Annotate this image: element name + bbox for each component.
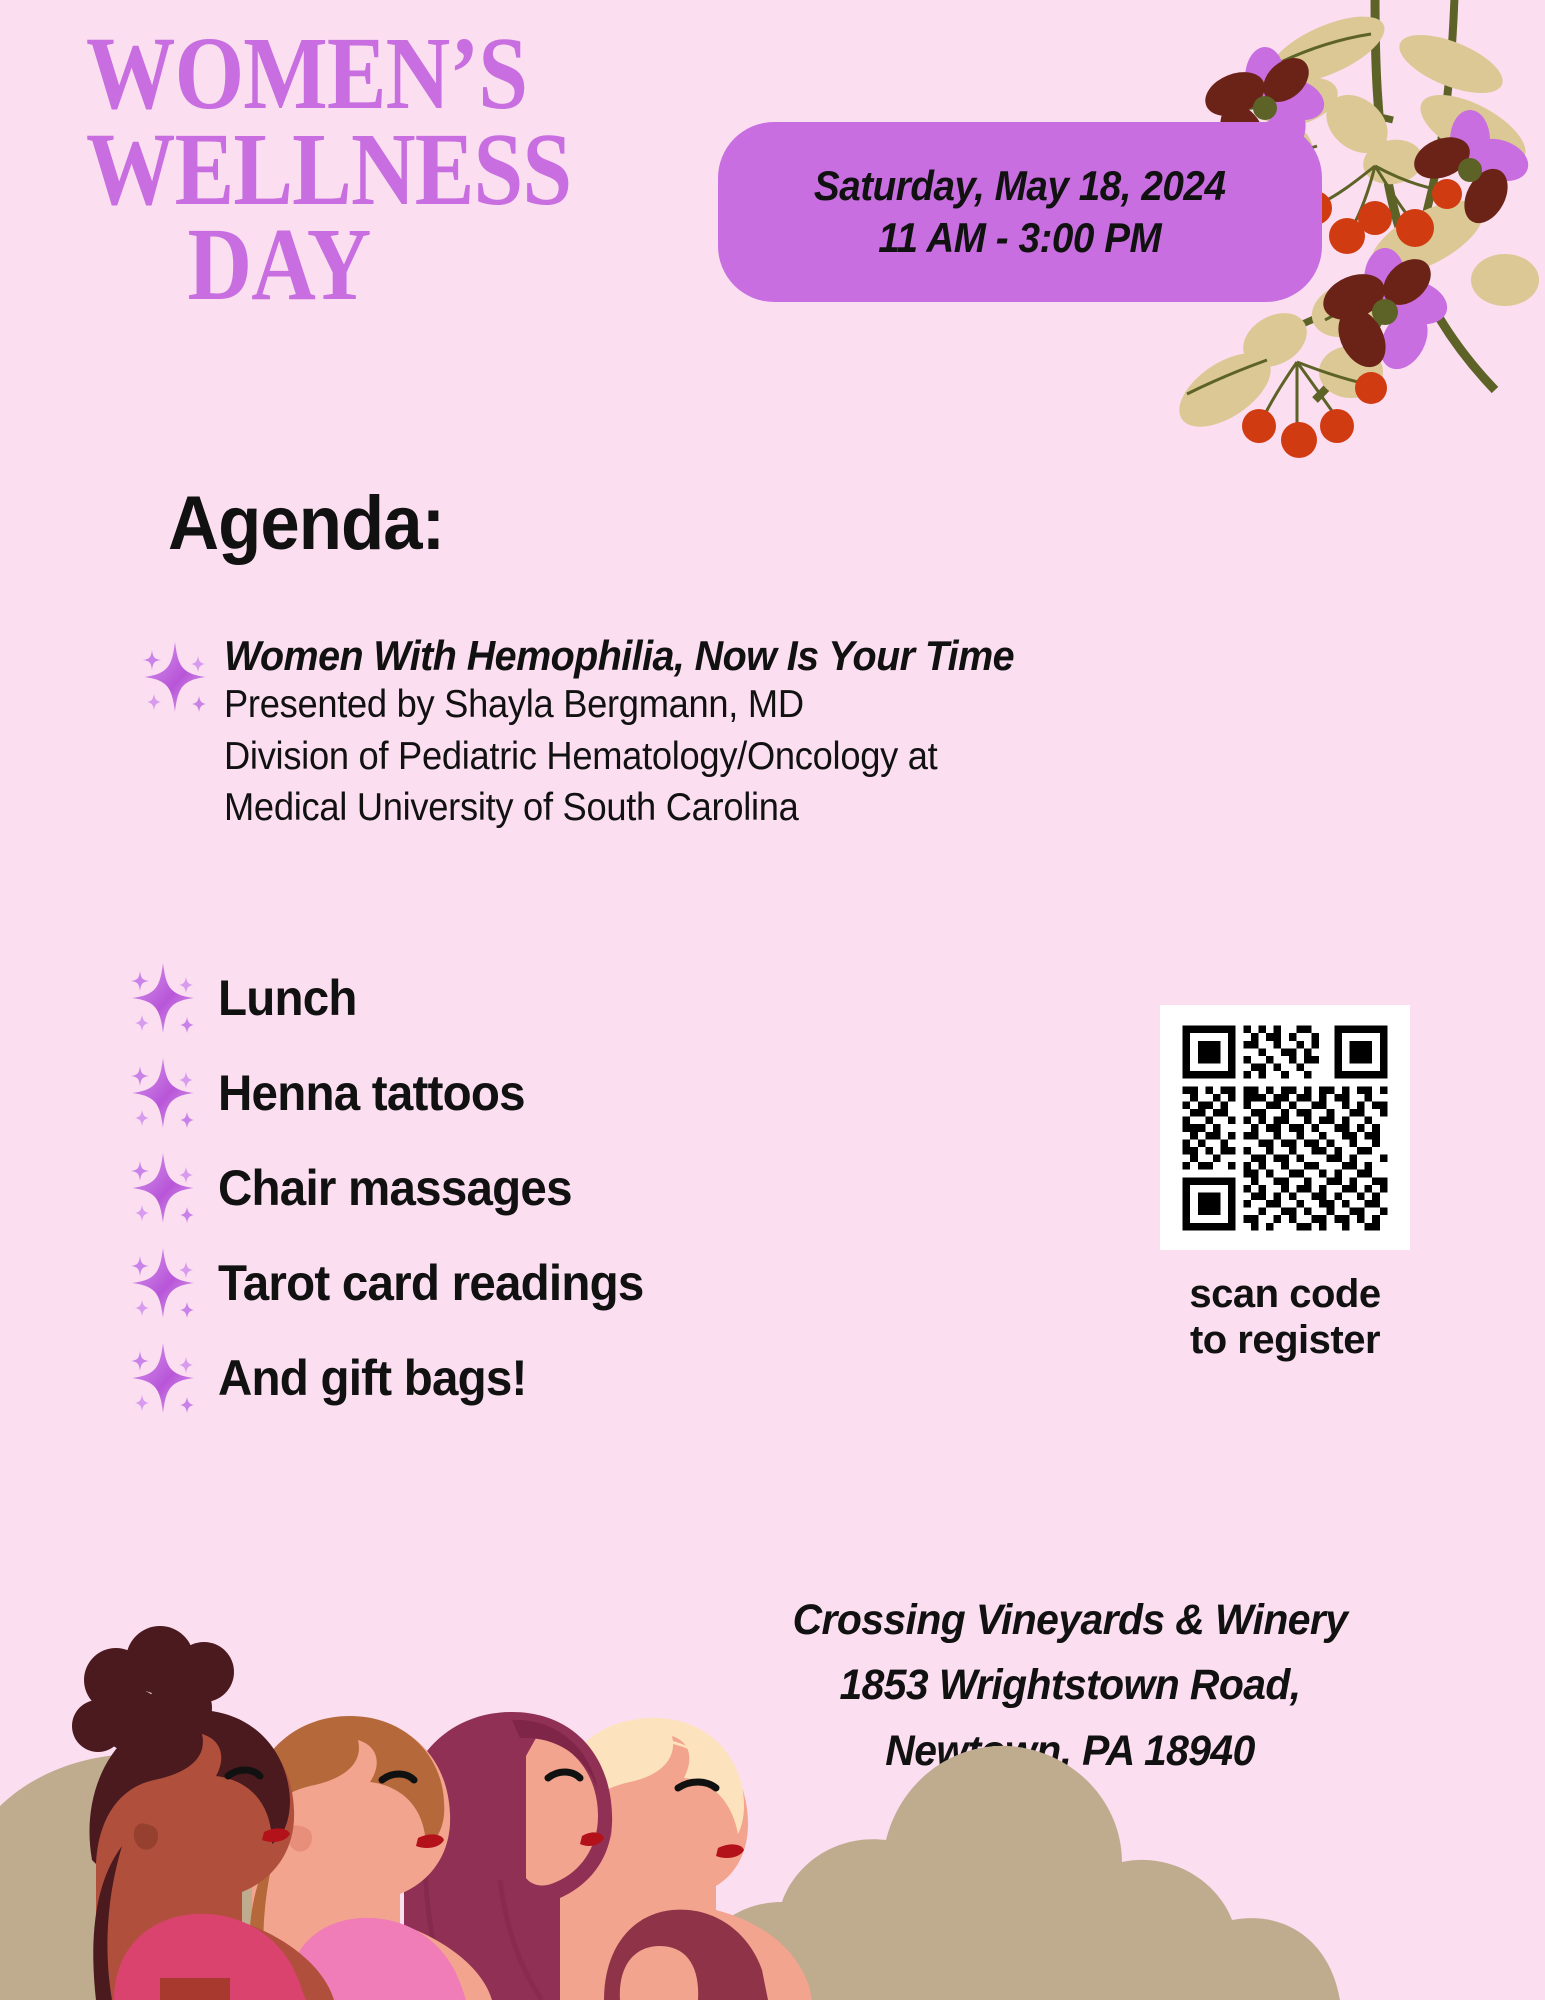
list-item-label: Chair massages (218, 1159, 572, 1217)
poster-canvas: WOMEN’S WELLNESS DAY Saturday, May 18, 2… (0, 0, 1545, 2000)
talk-text-block: Women With Hemophilia, Now Is Your Time … (224, 632, 1064, 833)
venue-block: Crossing Vineyards & Winery 1853 Wrights… (720, 1588, 1420, 1784)
title-line-3: DAY (86, 219, 568, 311)
venue-street: 1853 Wrightstown Road, (738, 1653, 1403, 1718)
qr-caption-line-1: scan code (1160, 1272, 1410, 1318)
venue-name: Crossing Vineyards & Winery (738, 1588, 1403, 1653)
event-time: 11 AM - 3:00 PM (879, 214, 1162, 262)
list-item-label: Henna tattoos (218, 1064, 525, 1122)
agenda-list: Lunch Henna tattoos Chair massages (128, 950, 948, 1425)
sparkle-icon (128, 959, 198, 1037)
qr-code-icon (1175, 1018, 1395, 1238)
agenda-featured-talk: Women With Hemophilia, Now Is Your Time … (140, 632, 1400, 833)
list-item-label: Tarot card readings (218, 1254, 643, 1312)
date-time-badge: Saturday, May 18, 2024 11 AM - 3:00 PM (718, 122, 1322, 302)
list-item: Tarot card readings (128, 1235, 948, 1330)
agenda-heading: Agenda: (168, 480, 444, 567)
event-date: Saturday, May 18, 2024 (814, 162, 1226, 210)
qr-caption: scan code to register (1160, 1272, 1410, 1363)
list-item: Henna tattoos (128, 1045, 948, 1140)
title-line-2: WELLNESS (86, 124, 568, 216)
qr-registration-block: scan code to register (1160, 1005, 1410, 1363)
list-item-label: And gift bags! (218, 1349, 527, 1407)
talk-presenter: Presented by Shayla Bergmann, MD (224, 679, 1006, 730)
talk-affiliation-line-1: Division of Pediatric Hematology/Oncolog… (224, 731, 1006, 782)
talk-title: Women With Hemophilia, Now Is Your Time (224, 632, 1014, 679)
sparkle-icon (128, 1054, 198, 1132)
sparkle-icon (128, 1149, 198, 1227)
sparkle-icon (128, 1244, 198, 1322)
sparkle-icon (128, 1339, 198, 1417)
sparkle-icon (140, 638, 210, 716)
list-item: Chair massages (128, 1140, 948, 1235)
list-item: And gift bags! (128, 1330, 948, 1425)
talk-affiliation-line-2: Medical University of South Carolina (224, 782, 1006, 833)
venue-city-state-zip: Newtown, PA 18940 (738, 1719, 1403, 1784)
list-item: Lunch (128, 950, 948, 1045)
title-line-1: WOMEN’S (86, 28, 568, 120)
list-item-label: Lunch (218, 969, 357, 1027)
page-title: WOMEN’S WELLNESS DAY (86, 28, 646, 311)
qr-code-image[interactable] (1160, 1005, 1410, 1250)
qr-caption-line-2: to register (1160, 1318, 1410, 1364)
